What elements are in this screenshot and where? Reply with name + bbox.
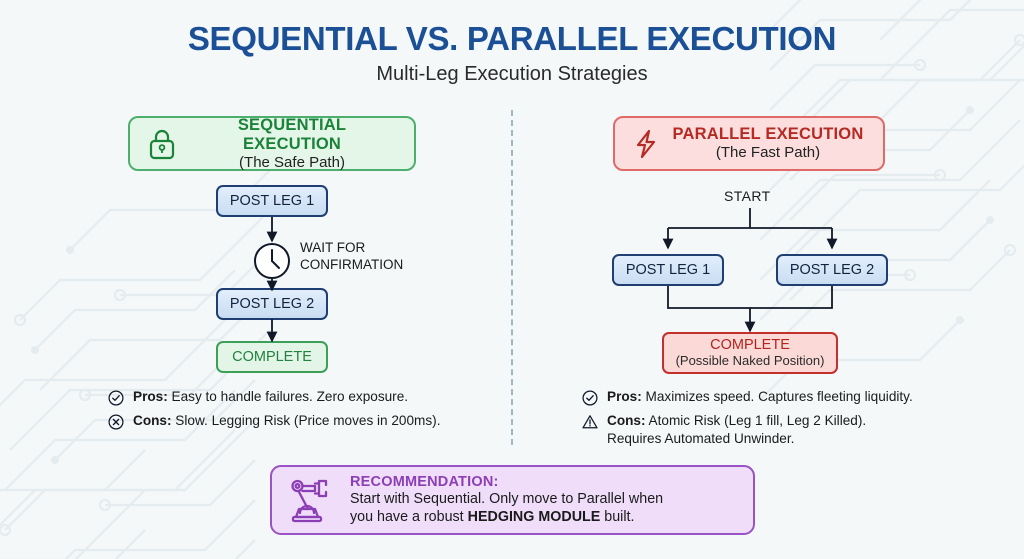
check-circle-icon: [582, 390, 598, 406]
recommendation-title: RECOMMENDATION:: [350, 474, 663, 490]
seq-node-post-leg-2[interactable]: POST LEG 2: [216, 288, 328, 320]
parallel-cons-label: Cons:: [607, 413, 646, 428]
sequential-cons-row: Cons: Slow. Legging Risk (Price moves in…: [108, 412, 488, 430]
parallel-cons-text-line1: Atomic Risk (Leg 1 fill, Leg 2 Killed).: [649, 413, 867, 428]
lightning-bolt-icon: [633, 128, 659, 160]
warning-triangle-icon: [582, 414, 598, 430]
recommendation-line1: Start with Sequential. Only move to Para…: [350, 490, 663, 508]
par-node-complete[interactable]: COMPLETE (Possible Naked Position): [662, 332, 838, 374]
sequential-pros-cons: Pros: Easy to handle failures. Zero expo…: [108, 388, 488, 436]
seq-node-complete[interactable]: COMPLETE: [216, 341, 328, 373]
recommendation-line2-bold: HEDGING MODULE: [468, 509, 601, 525]
parallel-subheading: (The Fast Path): [671, 144, 865, 161]
wait-for-confirmation-label: WAIT FOR CONFIRMATION: [300, 240, 403, 274]
page-title: SEQUENTIAL VS. PARALLEL EXECUTION: [0, 20, 1024, 58]
parallel-pros-text: Maximizes speed. Captures fleeting liqui…: [646, 389, 913, 404]
robot-arm-icon: [288, 476, 336, 524]
par-node-post-leg-2[interactable]: POST LEG 2: [776, 254, 888, 286]
x-circle-icon: [108, 414, 124, 430]
sequential-subheading: (The Safe Path): [188, 154, 396, 171]
parallel-pros-row: Pros: Maximizes speed. Captures fleeting…: [582, 388, 982, 406]
parallel-cons-text-line2: Requires Automated Unwinder.: [607, 430, 866, 448]
parallel-cons-row: Cons: Atomic Risk (Leg 1 fill, Leg 2 Kil…: [582, 412, 982, 448]
par-node-post-leg-1[interactable]: POST LEG 1: [612, 254, 724, 286]
sequential-panel-header: SEQUENTIAL EXECUTION (The Safe Path): [128, 116, 416, 171]
par-complete-main: COMPLETE: [710, 337, 790, 354]
par-complete-sub: (Possible Naked Position): [676, 354, 825, 369]
parallel-heading: PARALLEL EXECUTION: [671, 125, 865, 144]
seq-node-post-leg-1[interactable]: POST LEG 1: [216, 185, 328, 217]
sequential-cons-label: Cons:: [133, 413, 172, 428]
infographic-canvas: SEQUENTIAL VS. PARALLEL EXECUTION Multi-…: [0, 0, 1024, 559]
lock-icon: [148, 128, 176, 160]
sequential-heading: SEQUENTIAL EXECUTION: [188, 116, 396, 154]
parallel-panel-header: PARALLEL EXECUTION (The Fast Path): [613, 116, 885, 171]
sequential-pros-text: Easy to handle failures. Zero exposure.: [172, 389, 409, 404]
sequential-pros-label: Pros:: [133, 389, 168, 404]
panel-divider: [511, 110, 513, 445]
recommendation-line2-before: you have a robust: [350, 509, 468, 525]
check-circle-icon: [108, 390, 124, 406]
parallel-start-label: START: [724, 188, 771, 204]
sequential-cons-text: Slow. Legging Risk (Price moves in 200ms…: [175, 413, 440, 428]
recommendation-box: RECOMMENDATION: Start with Sequential. O…: [270, 465, 755, 535]
recommendation-line2-after: built.: [600, 509, 634, 525]
recommendation-line2: you have a robust HEDGING MODULE built.: [350, 508, 663, 526]
page-subtitle: Multi-Leg Execution Strategies: [0, 63, 1024, 86]
parallel-pros-label: Pros:: [607, 389, 642, 404]
sequential-pros-row: Pros: Easy to handle failures. Zero expo…: [108, 388, 488, 406]
clock-icon: [252, 241, 292, 281]
parallel-pros-cons: Pros: Maximizes speed. Captures fleeting…: [582, 388, 982, 454]
